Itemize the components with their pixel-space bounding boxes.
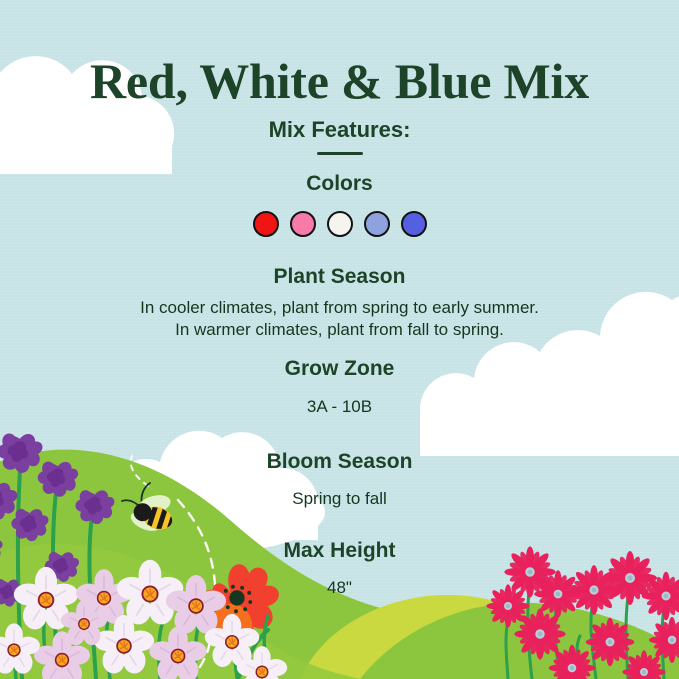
color-swatch-pink[interactable] bbox=[290, 211, 316, 237]
title-divider bbox=[317, 152, 363, 155]
seed-packet-poster: Red, White & Blue Mix Mix Features: Colo… bbox=[0, 0, 679, 679]
colors-label: Colors bbox=[0, 172, 679, 196]
color-swatch-light-blue[interactable] bbox=[364, 211, 390, 237]
plant-season-label: Plant Season bbox=[0, 265, 679, 289]
max-height-value: 48" bbox=[0, 577, 679, 599]
mix-features-subtitle: Mix Features: bbox=[0, 117, 679, 143]
bloom-season-value: Spring to fall bbox=[0, 488, 679, 510]
color-swatch-blue[interactable] bbox=[401, 211, 427, 237]
content-layer: Red, White & Blue Mix Mix Features: Colo… bbox=[0, 0, 679, 679]
color-swatch-white[interactable] bbox=[327, 211, 353, 237]
grow-zone-label: Grow Zone bbox=[0, 357, 679, 381]
bloom-season-label: Bloom Season bbox=[0, 450, 679, 474]
color-swatch-red[interactable] bbox=[253, 211, 279, 237]
grow-zone-value: 3A - 10B bbox=[0, 396, 679, 418]
plant-season-line-1: In cooler climates, plant from spring to… bbox=[0, 297, 679, 319]
color-swatch-row bbox=[0, 211, 679, 237]
plant-season-line-2: In warmer climates, plant from fall to s… bbox=[0, 319, 679, 341]
max-height-label: Max Height bbox=[0, 539, 679, 563]
page-title: Red, White & Blue Mix bbox=[0, 52, 679, 110]
